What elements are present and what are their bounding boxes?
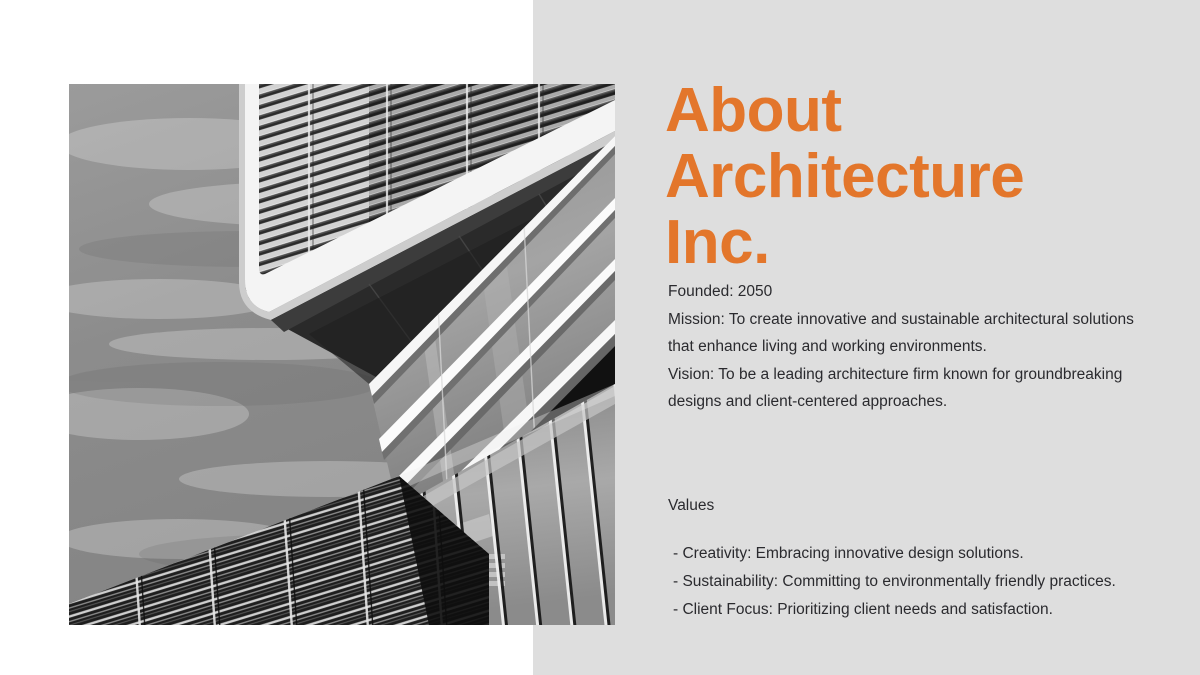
fact-mission: Mission: To create innovative and sustai… [668, 306, 1146, 360]
company-facts: Founded: 2050 Mission: To create innovat… [668, 278, 1146, 416]
page-title: About Architecture Inc. [665, 78, 1165, 276]
slide-root: About Architecture Inc. Founded: 2050 Mi… [0, 0, 1200, 675]
building-photo [69, 84, 615, 625]
fact-founded: Founded: 2050 [668, 278, 1146, 305]
values-list: - Creativity: Embracing innovative desig… [673, 540, 1148, 624]
list-item: - Creativity: Embracing innovative desig… [673, 540, 1148, 567]
list-item: - Sustainability: Committing to environm… [673, 568, 1148, 595]
fact-vision: Vision: To be a leading architecture fir… [668, 361, 1146, 415]
values-heading: Values [668, 494, 714, 518]
list-item: - Client Focus: Prioritizing client need… [673, 596, 1148, 623]
